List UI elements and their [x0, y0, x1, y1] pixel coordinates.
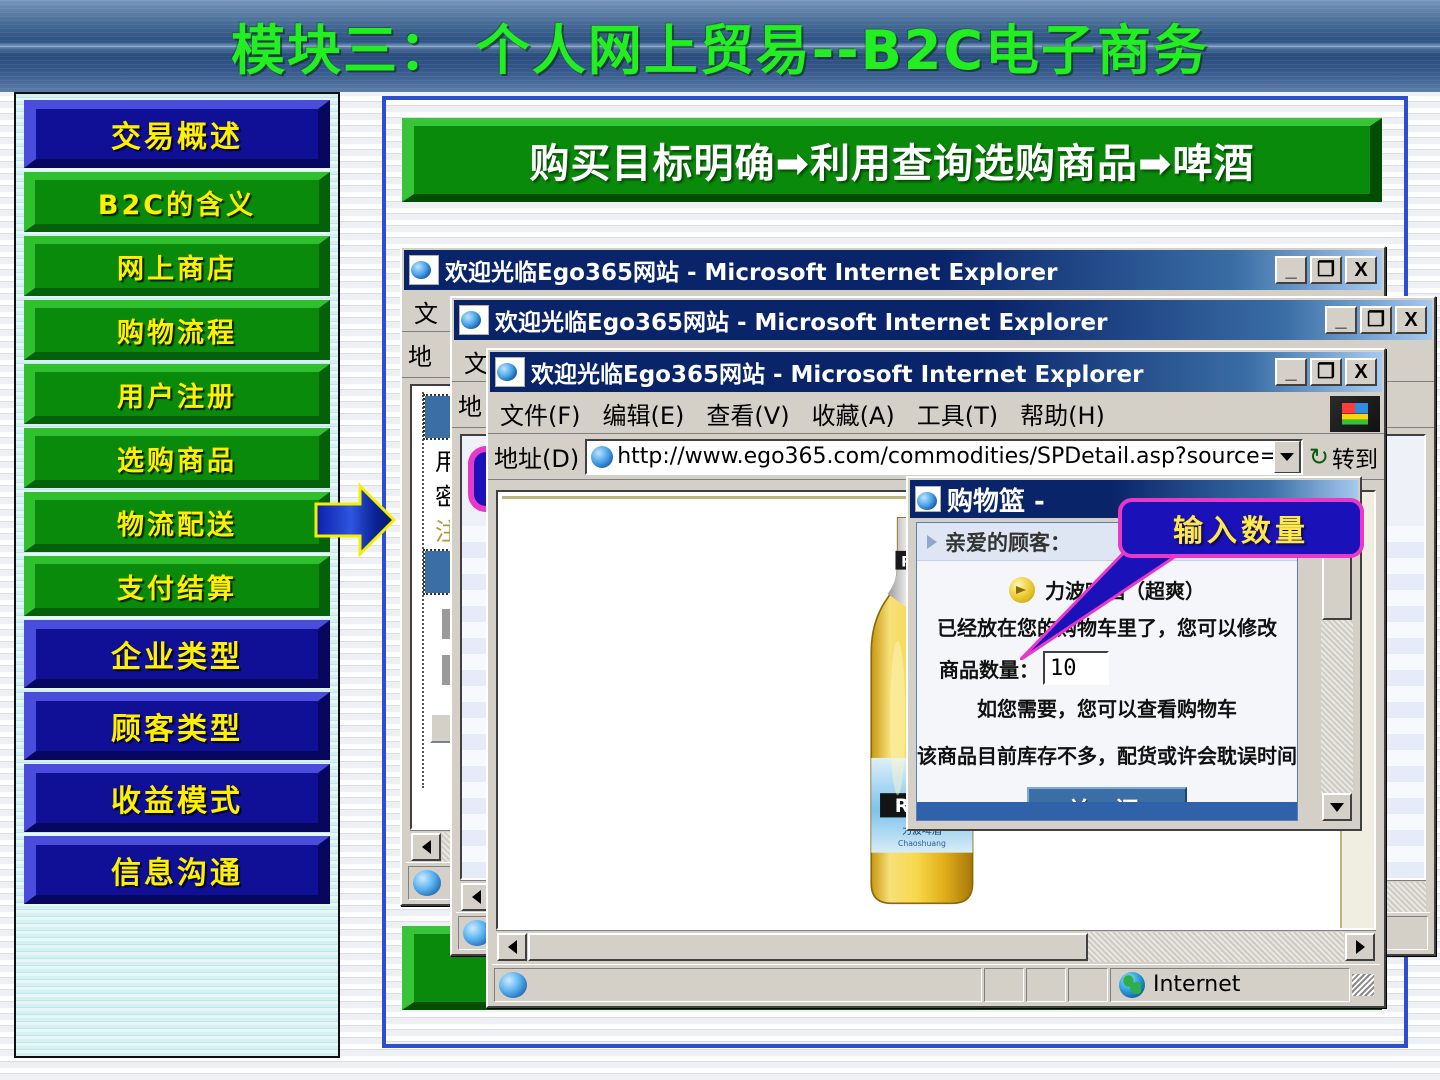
cart-view-cart-text: 如您需要，您可以查看购物车: [917, 693, 1297, 722]
windows-logo-icon: [1330, 396, 1380, 432]
window-controls-front[interactable]: _ ❐ X: [1275, 358, 1379, 386]
minimize-button[interactable]: _: [1275, 256, 1307, 284]
bullet-arrow-icon: [927, 535, 937, 549]
banner-top: 购买目标明确➡利用查询选购商品➡啤酒: [402, 118, 1382, 202]
callout-text: 输入数量: [1173, 506, 1309, 550]
cart-footer-bar: [917, 802, 1297, 820]
sidebar-item-customer-type[interactable]: 顾客类型: [24, 692, 330, 760]
scroll-left-button[interactable]: [497, 933, 527, 961]
svg-text:Chaoshuang: Chaoshuang: [898, 839, 946, 848]
status-zone-cell: Internet: [1110, 968, 1350, 1002]
status-message-cell: [494, 968, 982, 1002]
ie-window-title: 欢迎光临Ego365网站 - Microsoft Internet Explor…: [495, 303, 1325, 337]
menu-tools[interactable]: 工具(T): [917, 396, 998, 431]
cart-title: 购物篮 -: [947, 481, 1045, 518]
sidebar-item-b2c-meaning[interactable]: B2C的含义: [24, 172, 330, 232]
menu-file[interactable]: 文: [464, 344, 488, 379]
maximize-button[interactable]: ❐: [1360, 306, 1392, 334]
menu-file[interactable]: 文: [414, 294, 438, 329]
status-zone-label: Internet: [1153, 972, 1240, 997]
flow-arrow-icon: [312, 482, 398, 558]
sidebar-item-label: 信息沟通: [111, 848, 243, 892]
menu-file[interactable]: 文件(F): [500, 396, 581, 431]
sidebar-item-label: 交易概述: [111, 112, 243, 156]
sidebar-item-label: B2C的含义: [98, 183, 256, 222]
address-dropdown-icon[interactable]: [1273, 440, 1301, 474]
banner-top-text: 购买目标明确➡利用查询选购商品➡啤酒: [529, 131, 1254, 189]
sidebar-item-label: 选购商品: [117, 439, 237, 478]
address-input[interactable]: http://www.ego365.com/commodities/SPDeta…: [585, 439, 1303, 475]
go-button[interactable]: ↻ 转到: [1309, 440, 1378, 474]
close-button[interactable]: X: [1345, 256, 1377, 284]
sidebar-item-label: 企业类型: [111, 632, 243, 676]
menu-favorites[interactable]: 收藏(A): [812, 396, 895, 431]
address-label: 地址(D): [494, 439, 579, 474]
ie-small-icon: [499, 972, 527, 998]
ie-app-icon: [915, 486, 941, 512]
maximize-button[interactable]: ❐: [1310, 358, 1342, 386]
status-cell-1: [984, 968, 1024, 1002]
resize-grip-icon[interactable]: [1352, 974, 1374, 996]
go-button-label: 转到: [1332, 440, 1378, 474]
scroll-left-button[interactable]: [411, 833, 441, 861]
vscroll-track[interactable]: [1321, 620, 1353, 793]
address-label: 地: [458, 387, 482, 422]
ie-window-title: 欢迎光临Ego365网站 - Microsoft Internet Explor…: [531, 355, 1275, 389]
sidebar-item-shopping-flow[interactable]: 购物流程: [24, 300, 330, 360]
sidebar-item-user-register[interactable]: 用户注册: [24, 364, 330, 424]
hscroll-track[interactable]: [1088, 932, 1344, 962]
minimize-button[interactable]: _: [1325, 306, 1357, 334]
menu-help[interactable]: 帮助(H): [1020, 396, 1105, 431]
statusbar-front: Internet: [492, 964, 1380, 1004]
sidebar-item-label: 收益模式: [111, 776, 243, 820]
ie-titlebar-front[interactable]: 欢迎光临Ego365网站 - Microsoft Internet Explor…: [490, 352, 1382, 392]
cart-stock-warning: 该商品目前库存不多，配货或许会耽误时间！: [917, 740, 1297, 769]
status-cell-3: [1068, 968, 1108, 1002]
close-button[interactable]: X: [1345, 358, 1377, 386]
close-button[interactable]: X: [1395, 306, 1427, 334]
sidebar-item-label: 网上商店: [117, 247, 237, 286]
window-controls-middle[interactable]: _ ❐ X: [1325, 306, 1429, 334]
ie-app-icon: [495, 357, 525, 387]
status-cell-2: [1026, 968, 1066, 1002]
ie-window-title: 欢迎光临Ego365网站 - Microsoft Internet Explor…: [445, 253, 1275, 287]
maximize-button[interactable]: ❐: [1310, 256, 1342, 284]
ie-app-icon: [459, 305, 489, 335]
ie-titlebar-middle[interactable]: 欢迎光临Ego365网站 - Microsoft Internet Explor…: [454, 300, 1432, 340]
sidebar-item-logistics[interactable]: 物流配送: [24, 492, 330, 552]
ie-small-icon: [413, 870, 441, 896]
sidebar-item-transaction-overview[interactable]: 交易概述: [24, 100, 330, 168]
hscrollbar-front[interactable]: [496, 930, 1376, 962]
address-label: 地: [408, 337, 432, 372]
hscroll-thumb[interactable]: [528, 933, 1088, 961]
window-controls-back[interactable]: _ ❐ X: [1275, 256, 1379, 284]
sidebar-nav: 交易概述 B2C的含义 网上商店 购物流程 用户注册 选购商品 物流配送 支付结…: [14, 92, 340, 1058]
sidebar-item-label: 顾客类型: [111, 704, 243, 748]
scroll-right-button[interactable]: [1345, 933, 1375, 961]
internet-globe-icon: [1119, 972, 1145, 998]
sidebar-item-enterprise-type[interactable]: 企业类型: [24, 620, 330, 688]
ie-addressbar-front[interactable]: 地址(D) http://www.ego365.com/commodities/…: [488, 434, 1384, 480]
menu-view[interactable]: 查看(V): [706, 396, 789, 431]
ie-app-icon: [409, 255, 439, 285]
ie-titlebar-back[interactable]: 欢迎光临Ego365网站 - Microsoft Internet Explor…: [404, 250, 1382, 290]
cart-vscrollbar[interactable]: [1320, 522, 1354, 821]
slide-header: 模块三： 个人网上贸易--B2C电子商务: [0, 0, 1440, 92]
favicon-icon: [591, 446, 613, 468]
sidebar-item-revenue-model[interactable]: 收益模式: [24, 764, 330, 832]
sidebar-item-label: 物流配送: [117, 503, 237, 542]
go-arrow-icon: ↻: [1309, 443, 1329, 471]
sidebar-item-label: 支付结算: [117, 567, 237, 606]
ie-menubar-front[interactable]: 文件(F) 编辑(E) 查看(V) 收藏(A) 工具(T) 帮助(H): [488, 394, 1384, 434]
callout-input-quantity: 输入数量: [1118, 498, 1364, 558]
sidebar-item-label: 购物流程: [117, 311, 237, 350]
menu-edit[interactable]: 编辑(E): [603, 396, 685, 431]
sidebar-item-communication[interactable]: 信息沟通: [24, 836, 330, 904]
scroll-down-button[interactable]: [1322, 793, 1352, 821]
minimize-button[interactable]: _: [1275, 358, 1307, 386]
vscroll-thumb[interactable]: [1322, 550, 1352, 620]
sidebar-item-select-goods[interactable]: 选购商品: [24, 428, 330, 488]
address-url-text: http://www.ego365.com/commodities/SPDeta…: [617, 444, 1273, 469]
page-title: 模块三： 个人网上贸易--B2C电子商务: [0, 6, 1440, 85]
sidebar-item-label: 用户注册: [117, 375, 237, 414]
sidebar-item-payment[interactable]: 支付结算: [24, 556, 330, 616]
sidebar-item-online-store[interactable]: 网上商店: [24, 236, 330, 296]
